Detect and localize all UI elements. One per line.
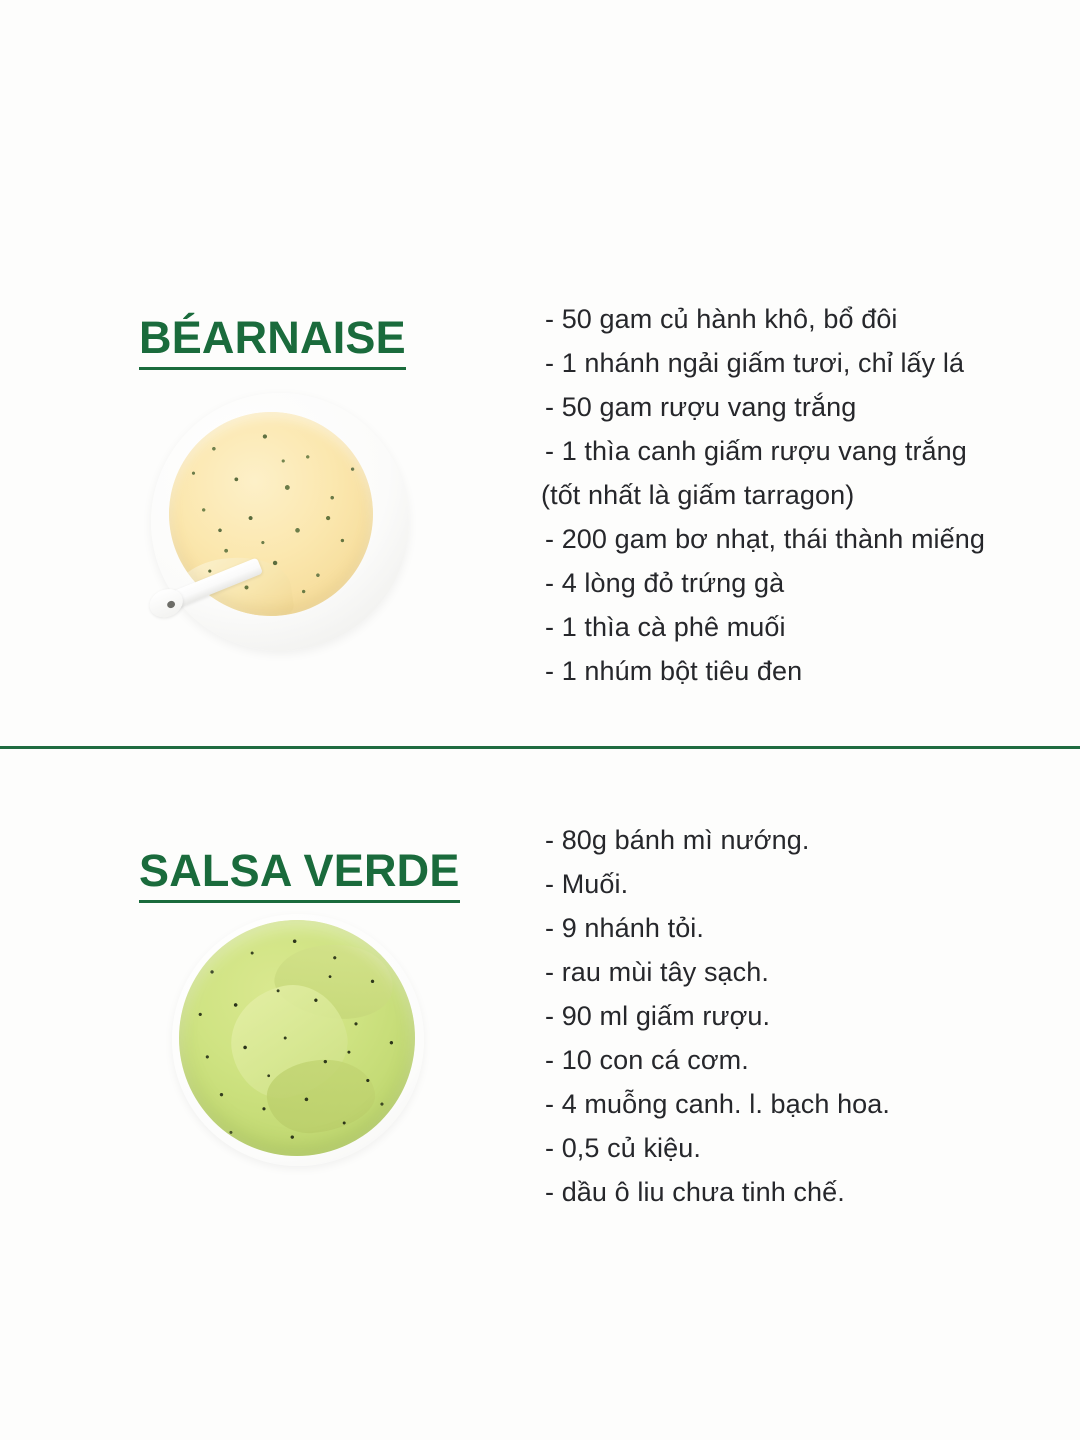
salsa-verde-photo bbox=[172, 914, 428, 1170]
recipe-section-bearnaise: BÉARNAISE - 50 gam củ hành khô, bổ đôi -… bbox=[0, 0, 1080, 748]
recipe-section-salsa-verde: SALSA VERDE - 80g bánh mì nướng. - Muối.… bbox=[0, 752, 1080, 1440]
spoon-speck bbox=[166, 600, 176, 609]
ingredient-item: - rau mùi tây sạch. bbox=[545, 950, 1045, 994]
ingredient-item: - Muối. bbox=[545, 862, 1045, 906]
ingredient-item: - 50 gam rượu vang trắng bbox=[545, 385, 1045, 429]
salsa-verde-surface bbox=[179, 920, 415, 1156]
bearnaise-sauce-photo bbox=[140, 390, 420, 655]
ingredient-item: - 4 muỗng canh. l. bạch hoa. bbox=[545, 1082, 1045, 1126]
recipe-title-salsa-verde: SALSA VERDE bbox=[139, 848, 460, 903]
ingredient-item: - 50 gam củ hành khô, bổ đôi bbox=[545, 297, 1045, 341]
ingredient-item: - 4 lòng đỏ trứng gà bbox=[545, 561, 1045, 605]
recipe-card-page: BÉARNAISE - 50 gam củ hành khô, bổ đôi -… bbox=[0, 0, 1080, 1440]
ingredient-item: - 1 nhánh ngải giấm tươi, chỉ lấy lá bbox=[545, 341, 1045, 385]
ingredient-item: - 90 ml giấm rượu. bbox=[545, 994, 1045, 1038]
ingredient-note: (tốt nhất là giấm tarragon) bbox=[541, 473, 1045, 517]
section-divider bbox=[0, 746, 1080, 749]
ingredient-item: - 9 nhánh tỏi. bbox=[545, 906, 1045, 950]
ingredient-item: - 1 nhúm bột tiêu đen bbox=[545, 649, 1045, 693]
salsa-shading bbox=[179, 920, 415, 1156]
ingredient-item: - 0,5 củ kiệu. bbox=[545, 1126, 1045, 1170]
ingredient-list-salsa-verde: - 80g bánh mì nướng. - Muối. - 9 nhánh t… bbox=[545, 818, 1045, 1214]
ingredient-item: - 1 thìa cà phê muối bbox=[545, 605, 1045, 649]
ingredient-item: - 200 gam bơ nhạt, thái thành miếng bbox=[545, 517, 1045, 561]
ingredient-item: - 10 con cá cơm. bbox=[545, 1038, 1045, 1082]
ingredient-item: - 80g bánh mì nướng. bbox=[545, 818, 1045, 862]
ingredient-list-bearnaise: - 50 gam củ hành khô, bổ đôi - 1 nhánh n… bbox=[545, 297, 1045, 693]
ingredient-item: - dầu ô liu chưa tinh chế. bbox=[545, 1170, 1045, 1214]
ingredient-item: - 1 thìa canh giấm rượu vang trắng bbox=[545, 429, 1045, 473]
recipe-title-bearnaise: BÉARNAISE bbox=[139, 315, 406, 370]
